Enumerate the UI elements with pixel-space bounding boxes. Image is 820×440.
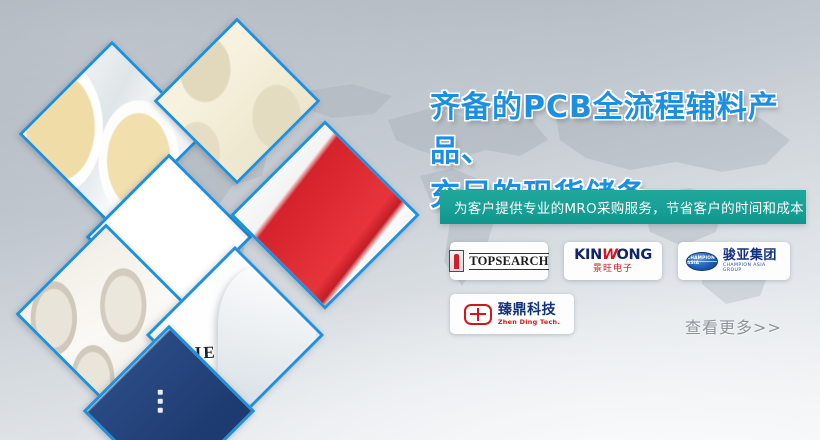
- kinwong-chinese-name: 景旺电子: [574, 265, 652, 274]
- product-collage: JIE: [0, 0, 420, 440]
- champion-globe-text: CHAMPION ASIA: [687, 256, 717, 266]
- banner-subtitle-text: 为客户提供专业的MRO采购服务，节省客户的时间和成本: [454, 197, 804, 217]
- champion-globe-icon: CHAMPION ASIA: [686, 252, 718, 271]
- zhending-monogram-icon: [464, 304, 492, 325]
- kinwong-wordmark: KINWONG: [574, 248, 652, 263]
- kinwong-suffix: ONG: [616, 247, 651, 263]
- client-logo-row-2: 臻鼎科技 Zhen Ding Tech.: [450, 294, 574, 334]
- topsearch-wordmark: TOPSEARCH: [469, 253, 548, 270]
- promo-banner: JIE 齐备的PCB全流程辅料产品、 充足的现货储备 为客户提供专业的MRO采购…: [0, 0, 820, 440]
- client-logo-row-1: TOPSEARCH KINWONG 景旺电子 CHAMPION ASIA 骏亚集…: [450, 242, 790, 280]
- zhending-english-name: Zhen Ding Tech.: [498, 319, 560, 325]
- logo-card-champion-asia[interactable]: CHAMPION ASIA 骏亚集团 CHAMPION ASIA GROUP: [678, 242, 790, 280]
- kinwong-prefix: KIN: [574, 247, 602, 263]
- zhending-chinese-name: 臻鼎科技: [498, 303, 560, 317]
- kinwong-accent: W: [602, 247, 617, 263]
- banner-subtitle-bar: 为客户提供专业的MRO采购服务，节省客户的时间和成本: [440, 190, 806, 224]
- topsearch-emblem-icon: [449, 250, 464, 272]
- champion-chinese-name: 骏亚集团: [723, 249, 782, 262]
- champion-english-name: CHAMPION ASIA GROUP: [723, 264, 782, 273]
- logo-card-kinwong[interactable]: KINWONG 景旺电子: [564, 242, 662, 280]
- logo-card-topsearch[interactable]: TOPSEARCH: [450, 242, 548, 280]
- view-more-link[interactable]: 查看更多>>: [685, 314, 782, 338]
- navy-sheet-dots: [152, 386, 162, 417]
- logo-card-zhen-ding[interactable]: 臻鼎科技 Zhen Ding Tech.: [450, 294, 574, 334]
